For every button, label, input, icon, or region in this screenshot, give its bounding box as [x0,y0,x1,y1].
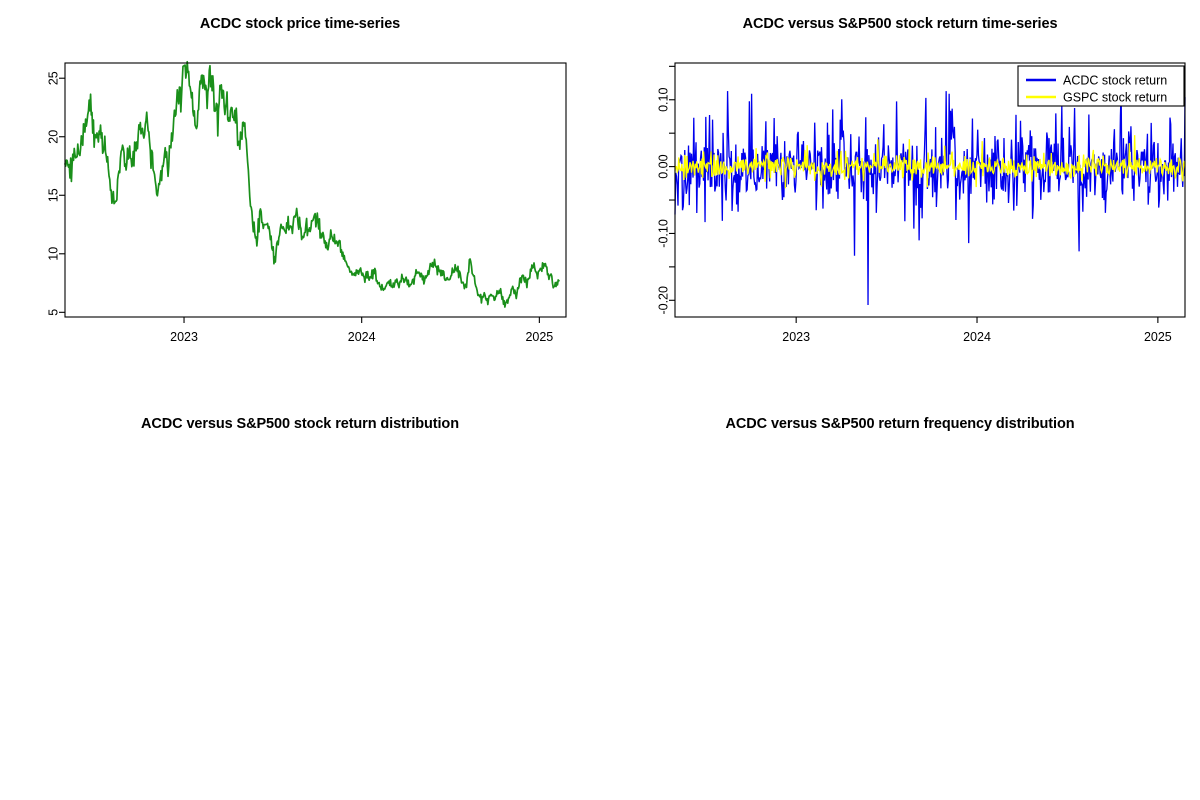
svg-text:-0.10: -0.10 [656,219,670,248]
svg-text:-0.20: -0.20 [656,286,670,315]
plot-acdc-price-timeseries: 510152025202320242025 [0,0,600,400]
figure-canvas: ACDC stock price time-series 51015202520… [0,0,1200,800]
svg-text:0.10: 0.10 [656,88,670,112]
panel-acdc-price-timeseries: ACDC stock price time-series 51015202520… [0,0,600,400]
svg-text:2023: 2023 [170,330,198,344]
svg-text:ACDC stock return: ACDC stock return [1063,74,1167,88]
svg-text:2024: 2024 [963,330,991,344]
svg-text:GSPC stock return: GSPC stock return [1063,91,1167,105]
panel-acdc-gspc-return-frequency: ACDC versus S&P500 return frequency dist… [600,400,1200,800]
plot-acdc-gspc-return-distribution: 01020304050-0.20-0.15-0.10-0.050.000.050… [0,400,600,800]
svg-text:0.00: 0.00 [656,154,670,178]
svg-text:10: 10 [46,247,60,261]
svg-text:5: 5 [46,309,60,316]
svg-text:2025: 2025 [1144,330,1172,344]
svg-text:20: 20 [46,130,60,144]
plot-acdc-gspc-return-frequency: 050100150200250300350[-0.207,-0.195)[-0.… [600,400,1200,800]
panel-acdc-gspc-return-distribution: ACDC versus S&P500 stock return distribu… [0,400,600,800]
svg-text:25: 25 [46,71,60,85]
svg-text:2025: 2025 [525,330,553,344]
svg-text:2023: 2023 [782,330,810,344]
svg-text:2024: 2024 [348,330,376,344]
svg-text:15: 15 [46,188,60,202]
plot-acdc-gspc-return-timeseries: -0.20-0.100.000.10202320242025ACDC stock… [600,0,1200,400]
panel-acdc-gspc-return-timeseries: ACDC versus S&P500 stock return time-ser… [600,0,1200,400]
